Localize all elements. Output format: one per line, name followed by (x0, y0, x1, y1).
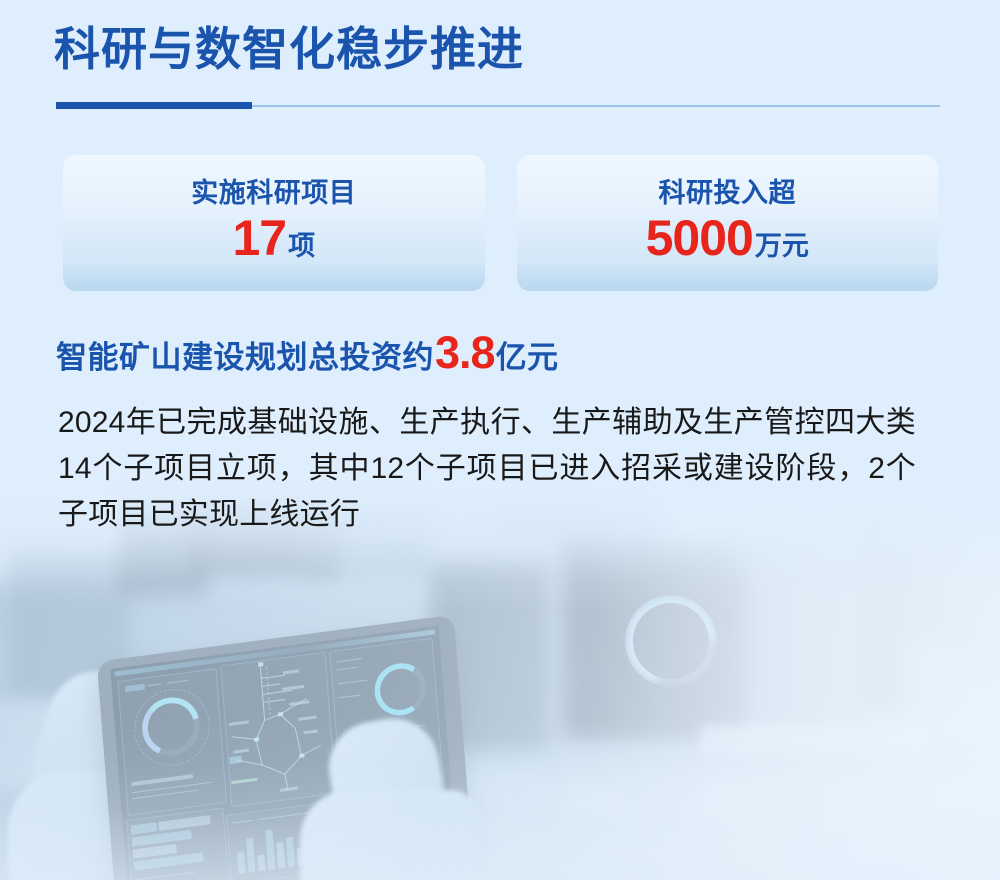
stat-card-group: 实施科研项目 17 项 科研投入超 5000 万元 (63, 155, 938, 291)
stat-unit: 万元 (755, 233, 809, 260)
subheading-suffix: 亿元 (496, 342, 559, 373)
infographic-page: 科研与数智化稳步推进 实施科研项目 17 项 科研投入超 5000 万元 (0, 0, 1000, 880)
subheading: 智能矿山建设规划总投资约 3.8 亿元 (56, 330, 559, 375)
title-underline-thick (56, 102, 252, 109)
stat-card-research-projects: 实施科研项目 17 项 (63, 155, 485, 291)
stat-label: 实施科研项目 (191, 180, 356, 207)
subheading-number: 3.8 (435, 330, 495, 375)
title-underline (56, 102, 940, 109)
page-title: 科研与数智化稳步推进 (54, 24, 524, 75)
stat-label: 科研投入超 (659, 180, 797, 207)
stat-value-row: 5000 万元 (646, 213, 809, 263)
stat-number: 5000 (646, 213, 753, 263)
content-layer: 科研与数智化稳步推进 实施科研项目 17 项 科研投入超 5000 万元 (0, 0, 1000, 880)
stat-number: 17 (232, 213, 286, 263)
stat-card-research-investment: 科研投入超 5000 万元 (517, 155, 939, 291)
stat-value-row: 17 项 (232, 213, 315, 263)
body-paragraph: 2024年已完成基础设施、生产执行、生产辅助及生产管控四大类14个子项目立项，其… (58, 400, 916, 538)
stat-unit: 项 (288, 233, 315, 260)
subheading-prefix: 智能矿山建设规划总投资约 (56, 342, 434, 373)
